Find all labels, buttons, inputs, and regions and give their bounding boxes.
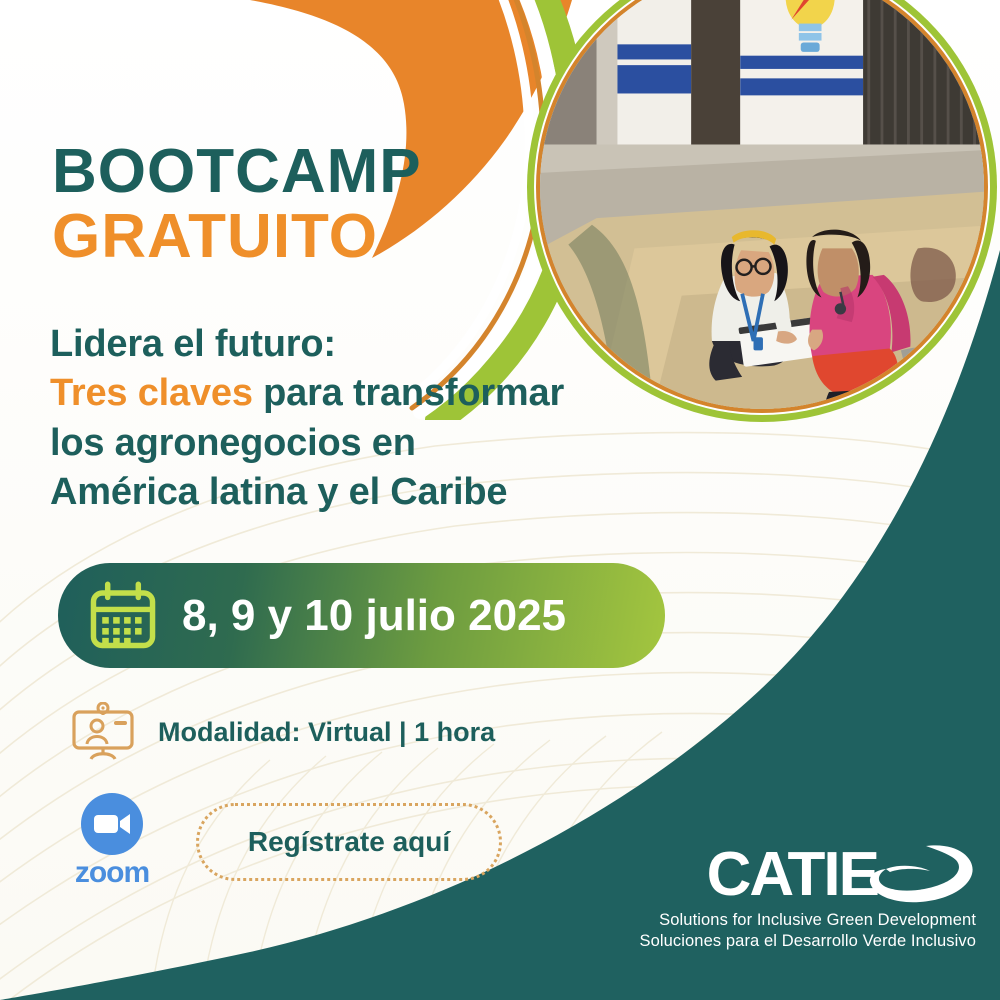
date-banner: 8, 9 y 10 julio 2025 (58, 563, 665, 668)
hero-heading: BOOTCAMP GRATUITO (52, 140, 422, 268)
subheading-line-1: Lidera el futuro: (50, 320, 564, 369)
photo-circle (527, 0, 997, 422)
catie-tagline: Solutions for Inclusive Green Developmen… (639, 910, 976, 952)
catie-swoosh-icon (868, 844, 976, 906)
zoom-wordmark: zoom (75, 856, 149, 890)
hero-line-gratuito: GRATUITO (52, 205, 422, 268)
subheading-highlight: Tres claves (50, 372, 253, 414)
catie-wordmark: CATIE (707, 844, 878, 906)
subheading-line-2: Tres claves para transformar (50, 369, 564, 418)
modality-text: Modalidad: Virtual | 1 hora (158, 717, 495, 748)
hero-line-bootcamp: BOOTCAMP (52, 140, 422, 203)
catie-tagline-en: Solutions for Inclusive Green Developmen… (639, 910, 976, 931)
photo-image (540, 0, 984, 409)
date-text: 8, 9 y 10 julio 2025 (182, 591, 566, 641)
promotional-poster: BOOTCAMP GRATUITO Lidera el futuro: Tres… (0, 0, 1000, 1000)
register-button-label: Regístrate aquí (248, 826, 450, 858)
register-button[interactable]: Regístrate aquí (196, 803, 502, 881)
subheading: Lidera el futuro: Tres claves para trans… (50, 320, 564, 518)
subheading-line-3: los agronegocios en (50, 419, 564, 468)
catie-tagline-es: Soluciones para el Desarrollo Verde Incl… (639, 931, 976, 952)
catie-wordmark-group: CATIE (707, 844, 976, 906)
cta-row: zoom Regístrate aquí (62, 793, 502, 890)
field-interview-photo (540, 0, 984, 409)
subheading-line-2-rest: para transformar (253, 372, 564, 414)
calendar-icon (88, 581, 158, 651)
video-monitor-icon (70, 702, 136, 762)
zoom-camera-icon (81, 793, 143, 855)
modality-row: Modalidad: Virtual | 1 hora (70, 702, 495, 762)
catie-logo: CATIE Solutions for Inclusive Green Deve… (639, 844, 976, 952)
subheading-line-4: América latina y el Caribe (50, 468, 564, 517)
zoom-logo: zoom (62, 793, 162, 890)
